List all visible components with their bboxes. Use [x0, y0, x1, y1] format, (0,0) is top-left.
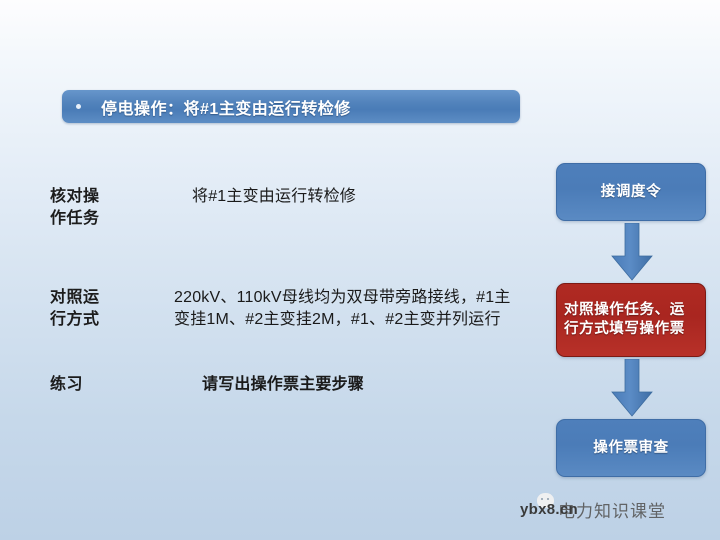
- row-label-task-line2: 作任务: [50, 208, 130, 230]
- flow-arrow-1: [556, 221, 708, 283]
- watermark: 电力知识课堂 ybx8.cn: [500, 495, 720, 529]
- bullet-icon: [76, 104, 81, 109]
- table-row: 练习 请写出操作票主要步骤: [50, 374, 520, 396]
- flow-node-dispatch-order: 接调度令: [556, 163, 706, 221]
- row-label-mode: 对照运 行方式: [50, 287, 160, 330]
- content-table: 核对操 作任务 将#1主变由运行转检修 对照运 行方式 220kV、110kV母…: [50, 186, 520, 396]
- row-value-practice: 请写出操作票主要步骤: [160, 374, 520, 396]
- flowchart: 接调度令 对照操作任务、运行方式填写操作票: [556, 163, 708, 477]
- flow-node-fill-ticket: 对照操作任务、运行方式填写操作票: [556, 283, 706, 357]
- row-label-mode-line1: 对照运: [50, 287, 130, 309]
- table-row: 核对操 作任务 将#1主变由运行转检修: [50, 186, 520, 229]
- slide-title-text: 停电操作：将#1主变由运行转检修: [101, 95, 351, 119]
- row-label-practice: 练习: [50, 374, 160, 396]
- flow-node-ticket-review: 操作票审查: [556, 419, 706, 477]
- slide-title-banner: 停电操作：将#1主变由运行转检修: [62, 90, 520, 123]
- flow-arrow-2: [556, 357, 708, 419]
- flow-node-dispatch-order-label: 接调度令: [601, 183, 661, 202]
- flow-node-fill-ticket-label: 对照操作任务、运行方式填写操作票: [564, 301, 698, 339]
- row-value-task: 将#1主变由运行转检修: [160, 186, 520, 208]
- row-value-mode: 220kV、110kV母线均为双母带旁路接线，#1主变挂1M、#2主变挂2M，#…: [160, 287, 520, 330]
- slide-canvas: 停电操作：将#1主变由运行转检修 核对操 作任务 将#1主变由运行转检修 对照运…: [0, 0, 720, 540]
- arrow-down-icon: [609, 223, 655, 281]
- arrow-down-icon: [609, 359, 655, 417]
- row-label-task-line1: 核对操: [50, 186, 130, 208]
- table-row: 对照运 行方式 220kV、110kV母线均为双母带旁路接线，#1主变挂1M、#…: [50, 287, 520, 330]
- row-label-task: 核对操 作任务: [50, 186, 160, 229]
- watermark-url: ybx8.cn: [520, 501, 578, 518]
- row-label-mode-line2: 行方式: [50, 309, 130, 331]
- flow-node-ticket-review-label: 操作票审查: [593, 439, 669, 458]
- row-label-practice-line1: 练习: [50, 374, 130, 396]
